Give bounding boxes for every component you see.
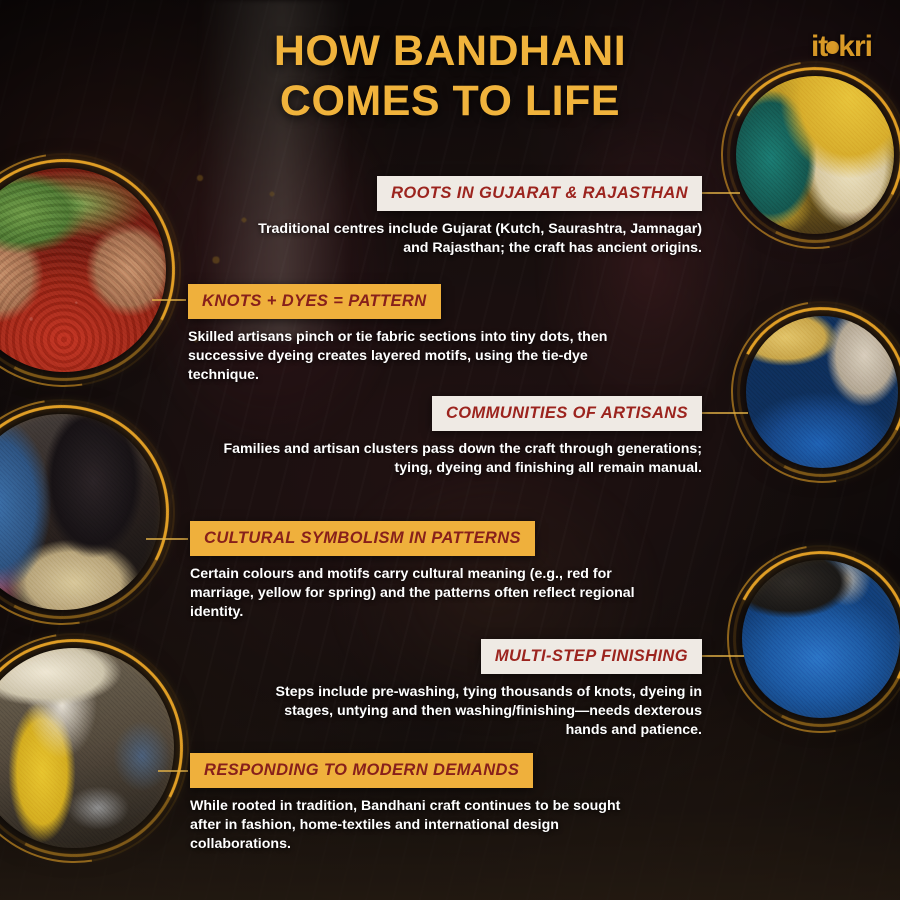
step-multi-step-finishing-badge[interactable]: MULTI-STEP FINISHING xyxy=(481,639,702,674)
connector-line-roots xyxy=(700,192,740,194)
step-modern-demands-badge[interactable]: RESPONDING TO MODERN DEMANDS xyxy=(190,753,533,788)
title-line-1: HOW BANDHANI xyxy=(274,27,626,75)
infographic-poster: HOW BANDHANI COMES TO LIFE itkri xyxy=(0,0,900,900)
step-multi-step-finishing: MULTI-STEP FINISHING Steps include pre-w… xyxy=(256,639,702,740)
photo-dyer-yellow-cloth xyxy=(0,648,174,848)
step-cultural-symbolism-badge[interactable]: CULTURAL SYMBOLISM IN PATTERNS xyxy=(190,521,535,556)
step-multi-step-finishing-body: Steps include pre-washing, tying thousan… xyxy=(256,683,702,740)
step-cultural-symbolism-body: Certain colours and motifs carry cultura… xyxy=(190,565,640,622)
connector-line-communities xyxy=(700,412,748,414)
connector-line-modern xyxy=(158,770,188,772)
brand-logo[interactable]: itkri xyxy=(811,32,872,62)
connector-line-knots xyxy=(152,299,186,301)
photo-women-artisans-dark xyxy=(0,414,160,610)
photo-indigo-vat xyxy=(742,560,900,718)
step-cultural-symbolism: CULTURAL SYMBOLISM IN PATTERNS Certain c… xyxy=(190,521,640,622)
step-knots-dyes-badge[interactable]: KNOTS + DYES = PATTERN xyxy=(188,284,441,319)
step-roots-body: Traditional centres include Gujarat (Kut… xyxy=(238,220,702,258)
step-knots-dyes-body: Skilled artisans pinch or tie fabric sec… xyxy=(188,328,644,385)
step-communities-badge[interactable]: COMMUNITIES OF ARTISANS xyxy=(432,396,702,431)
connector-line-cultural xyxy=(146,538,188,540)
logo-text-first: it xyxy=(811,30,827,63)
photo-women-tying-yellow-room xyxy=(736,76,894,234)
step-modern-demands: RESPONDING TO MODERN DEMANDS While roote… xyxy=(190,753,652,854)
step-roots: ROOTS IN GUJARAT & RAJASTHAN Traditional… xyxy=(238,176,702,258)
step-communities-body: Families and artisan clusters pass down … xyxy=(202,440,702,478)
photo-tying-red-fabric xyxy=(0,168,166,372)
connector-line-finishing xyxy=(700,655,744,657)
step-communities: COMMUNITIES OF ARTISANS Families and art… xyxy=(202,396,702,478)
logo-text-second: kri xyxy=(838,30,872,63)
photo-dyer-blue-tub xyxy=(746,316,898,468)
step-roots-badge[interactable]: ROOTS IN GUJARAT & RAJASTHAN xyxy=(377,176,702,211)
step-modern-demands-body: While rooted in tradition, Bandhani craf… xyxy=(190,797,652,854)
step-knots-dyes: KNOTS + DYES = PATTERN Skilled artisans … xyxy=(188,284,644,385)
